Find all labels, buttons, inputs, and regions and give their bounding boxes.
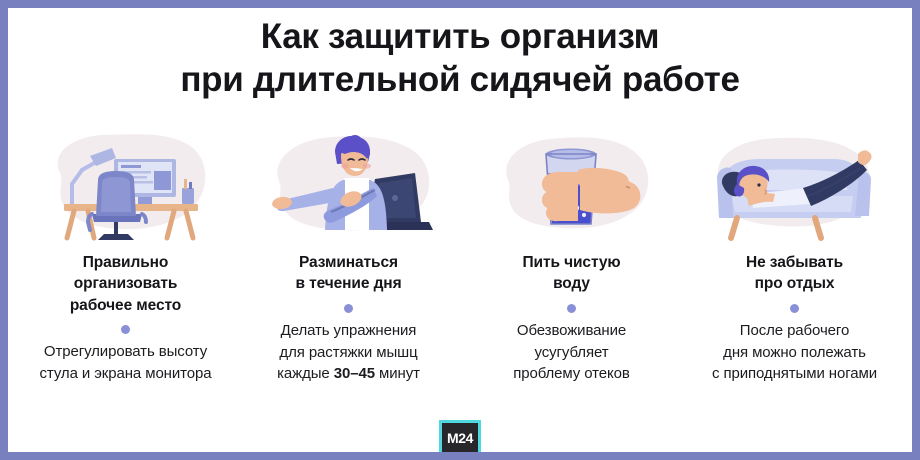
m24-logo: M24 — [439, 420, 481, 456]
body-line: усугубляет — [513, 342, 630, 364]
bullet-separator-dot — [567, 304, 576, 313]
woman-stretching-icon — [249, 126, 449, 244]
tip-column-rest: Не забывать про отдых После рабочего дня… — [683, 126, 906, 385]
heading-line: про отдых — [746, 273, 843, 294]
workspace-desk-chair-icon — [26, 126, 226, 244]
body-line: проблему отеков — [513, 363, 630, 385]
tip-heading-stretching: Разминаться в течение дня — [295, 252, 401, 295]
body-line: Обезвоживание — [513, 320, 630, 342]
tip-heading-workspace: Правильно организовать рабочее место — [70, 252, 181, 316]
body-line: с приподнятыми ногами — [712, 363, 877, 385]
tip-body-rest: После рабочего дня можно полежать с прип… — [712, 320, 877, 385]
tip-column-water: Пить чистую воду Обезвоживание усугубляе… — [460, 126, 683, 385]
tip-column-stretching: Разминаться в течение дня Делать упражне… — [237, 126, 460, 385]
bullet-separator-dot — [790, 304, 799, 313]
heading-line: Правильно — [70, 252, 181, 273]
heading-line: в течение дня — [295, 273, 401, 294]
tip-column-workspace: Правильно организовать рабочее место Отр… — [14, 126, 237, 385]
heading-line: организовать — [70, 273, 181, 294]
body-line-with-duration: каждые 30–45 минут — [277, 363, 420, 385]
tip-heading-rest: Не забывать про отдых — [746, 252, 843, 295]
duration-value: 30–45 — [334, 365, 375, 382]
body-line: для растяжки мышц — [277, 342, 420, 364]
body-line: Делать упражнения — [277, 320, 420, 342]
body-line: стула и экрана монитора — [40, 363, 212, 385]
body-line: После рабочего — [712, 320, 877, 342]
infographic-frame: Как защитить организм при длительной сид… — [0, 0, 920, 460]
body-line: Отрегулировать высоту — [40, 341, 212, 363]
tip-heading-water: Пить чистую воду — [523, 252, 621, 295]
m24-logo-label: M24 — [447, 430, 473, 446]
heading-line: Разминаться — [295, 252, 401, 273]
tip-body-workspace: Отрегулировать высоту стула и экрана мон… — [40, 341, 212, 385]
tip-body-water: Обезвоживание усугубляет проблему отеков — [513, 320, 630, 385]
heading-line: рабочее место — [70, 295, 181, 316]
duration-prefix: каждые — [277, 365, 334, 382]
hand-holding-water-glass-icon — [472, 126, 672, 244]
body-line: дня можно полежать — [712, 342, 877, 364]
tips-columns: Правильно организовать рабочее место Отр… — [14, 126, 906, 385]
heading-line: Пить чистую — [523, 252, 621, 273]
person-resting-on-couch-icon — [695, 126, 895, 244]
title-line-1: Как защитить организм — [8, 16, 912, 59]
heading-line: воду — [523, 273, 621, 294]
title-line-2: при длительной сидячей работе — [8, 59, 912, 102]
duration-suffix: минут — [375, 365, 420, 382]
page-title: Как защитить организм при длительной сид… — [8, 16, 912, 101]
infographic-canvas: Как защитить организм при длительной сид… — [8, 8, 912, 452]
bullet-separator-dot — [344, 304, 353, 313]
heading-line: Не забывать — [746, 252, 843, 273]
bullet-separator-dot — [121, 325, 130, 334]
tip-body-stretching: Делать упражнения для растяжки мышц кажд… — [277, 320, 420, 385]
